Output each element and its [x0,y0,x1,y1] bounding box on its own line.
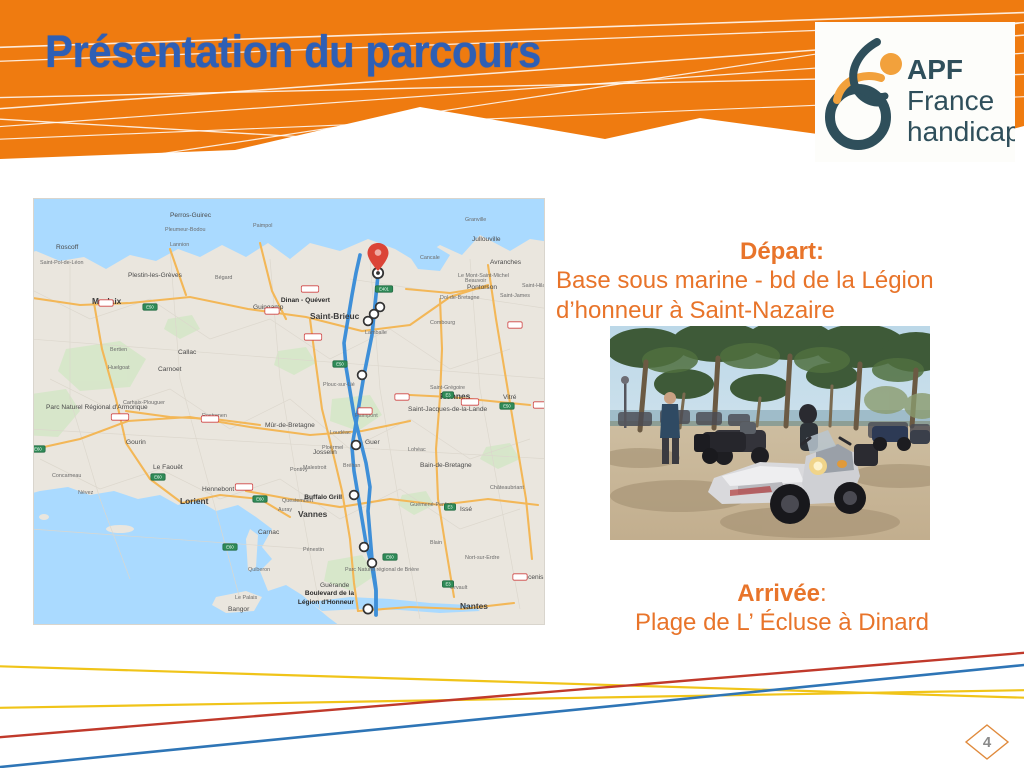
map-city-label: Saint-Grégoire [430,385,465,391]
map-city-label: Châteaubriant [490,485,524,491]
map-city-label: Bréhan [343,463,360,469]
map-city-label: Saint-Brieuc [310,311,360,321]
map-city-label: Paimpol [253,223,272,229]
map-road-shield-label: N12 [268,309,276,314]
map-city-label: Auray [278,507,292,513]
footer-lines-svg [0,620,1024,768]
map-city-label: Bertien [110,347,127,353]
footer-line-blue [0,664,1024,768]
map-city-label: Lohéac [408,447,426,453]
map-city-label: Saint-Hilaire [522,283,545,289]
depart-heading: Départ: [556,238,1008,266]
map-city-label: Dol-de-Bretagne [440,295,480,301]
map-city-label: Issé [460,506,472,513]
arrivee-heading-colon: : [820,580,827,607]
map-city-label: Granville [465,217,486,223]
map-city-label: Plestin-les-Grèves [128,272,183,279]
map-road-shield-label: E50 [146,305,154,310]
logo-text-handicap: handicap [907,116,1015,147]
map-road-shield-label: E3 [445,393,451,398]
route-start-marker [363,604,372,613]
map-city-label: Saint-Pol-de-Léon [40,260,83,266]
map-road-shield-label: N164 [115,415,126,420]
map-city-label: Saint-Jacques-de-la-Lande [408,406,488,413]
map-city-label: Perros-Guirec [170,212,212,219]
map-city-label: Vannes [298,509,328,519]
map-road-shield-label: E60 [386,555,394,560]
footer-line-yellow-2 [0,690,1024,708]
map-start-label-line1: Boulevard de la [305,590,354,597]
map-road-shield-label: N12 [102,301,110,306]
map-road-shield-label: N157 [465,400,476,405]
map-city-label: Bain-de-Bretagne [420,462,472,469]
map-waypoint-label-dinan: Dinan - Quévert [281,297,331,304]
map-city-label: Vitré [503,394,517,401]
map-city-label: Bégard [215,275,232,281]
map-road-shield-label: E3 [445,582,451,587]
map-road-shield-label: A84 [511,323,519,328]
map-city-label: Malestroit [303,465,327,471]
map-city-label: Mûr-de-Bretagne [265,422,315,429]
map-city-label: Concarneau [52,473,81,479]
map-city-label: Lannion [170,242,189,248]
map-road-shield-label: E3 [447,505,453,510]
page-title: Présentation du parcours [45,26,541,78]
map-city-label: Hennebont [202,486,234,493]
map-waypoint-label-buffalo: Buffalo Grill [304,494,342,501]
map-road-shield-label: E60 [154,475,162,480]
map-city-label: Huelgoat [108,365,130,371]
map-city-label: Nort-sur-Erdre [465,555,499,561]
map-city-label: Loudéac [330,430,351,436]
slide-number-text: 4 [963,722,1011,762]
map-city-label: Bangor [228,606,250,613]
map-road-shield-label: E60 [256,497,264,502]
map-city-label: Plouc-sur-Lié [323,382,355,388]
depart-address-line-1: Base sous marine - bd de la Légion [556,266,1008,296]
map-city-label: Lorient [180,496,209,506]
map-city-label: Guérande [320,582,350,589]
map-road-shield-label: N176 [308,335,319,340]
logo-text-apf: APF [907,54,963,85]
slide-header-band: Présentation du parcours APF France hand… [0,0,1024,185]
map-road-shield-label: N165 [239,485,250,490]
map-road-shield-label: E401 [379,287,389,292]
map-city-label: Parc Naturel régional de Brière [345,567,419,573]
route-map[interactable]: RoscoffSaint-Pol-de-LéonMorlaixPlestin-l… [33,198,545,625]
map-city-label: Carnoet [158,366,182,373]
map-city-label: Avranches [490,259,522,266]
map-road-shield-label: N24 [361,409,369,414]
map-city-label: Quiberon [248,567,270,573]
map-road-shield-label: N164 [205,417,216,422]
map-city-label: Gourin [126,439,146,446]
map-road-shield-label: E60 [34,447,42,452]
map-road-shield-label: N24 [398,395,406,400]
map-road-shield-label: N176 [305,287,316,292]
arrivee-heading-text: Arrivée [737,580,820,607]
slide-number-badge: 4 [963,722,1011,762]
map-city-label: Jullouville [472,236,501,243]
map-road-shield-label: E50 [503,404,511,409]
map-road-shield-label: N157 [537,403,545,408]
presentation-slide: Présentation du parcours APF France hand… [0,0,1024,768]
footer-decoration [0,620,1024,768]
map-start-label-line2: Légion d'Honneur [298,599,355,606]
map-city-label: Beauvoir [465,278,486,284]
arrivee-heading: Arrivée: [556,580,1008,608]
footer-line-red [0,652,1024,738]
map-city-label: Guer [365,439,380,446]
map-city-label: Parc Naturel Régional d'Armorique [46,404,148,411]
map-city-label: Ploërmel [322,445,343,451]
map-road-shield-label: E50 [336,362,344,367]
logo-mark-svg: APF France handicap [815,22,1015,162]
map-city-label: Pleumeur-Bodou [165,227,205,233]
map-city-label: Blain [430,540,442,546]
map-canvas-svg: RoscoffSaint-Pol-de-LéonMorlaixPlestin-l… [34,199,545,625]
map-city-label: Névez [78,490,94,496]
map-road-shield-label: E60 [226,545,234,550]
map-city-label: Le Palais [235,595,257,601]
apf-france-handicap-logo: APF France handicap [815,22,1015,162]
depart-address-line-2: d’honneur à Saint-Nazaire [556,296,1008,326]
map-city-label: Cancale [420,255,440,261]
depart-block: Départ: Base sous marine - bd de la Légi… [556,238,1008,326]
map-city-label: Nantes [460,601,488,611]
map-city-label: Roscoff [56,244,78,251]
logo-text-france: France [907,85,994,116]
map-city-label: Lamballe [365,330,387,336]
map-city-label: Le Faouët [153,464,183,471]
map-city-label: Pénestin [303,547,324,553]
map-city-label: Pontorson [467,284,497,291]
map-city-label: Combourg [430,320,455,326]
map-city-label: Callac [178,349,197,356]
map-road-shield-label: A11 [516,575,524,580]
map-city-label: Carnac [258,529,280,536]
map-city-label: Saint-James [500,293,530,299]
event-photo-svg [610,326,930,540]
event-photo [610,326,930,540]
